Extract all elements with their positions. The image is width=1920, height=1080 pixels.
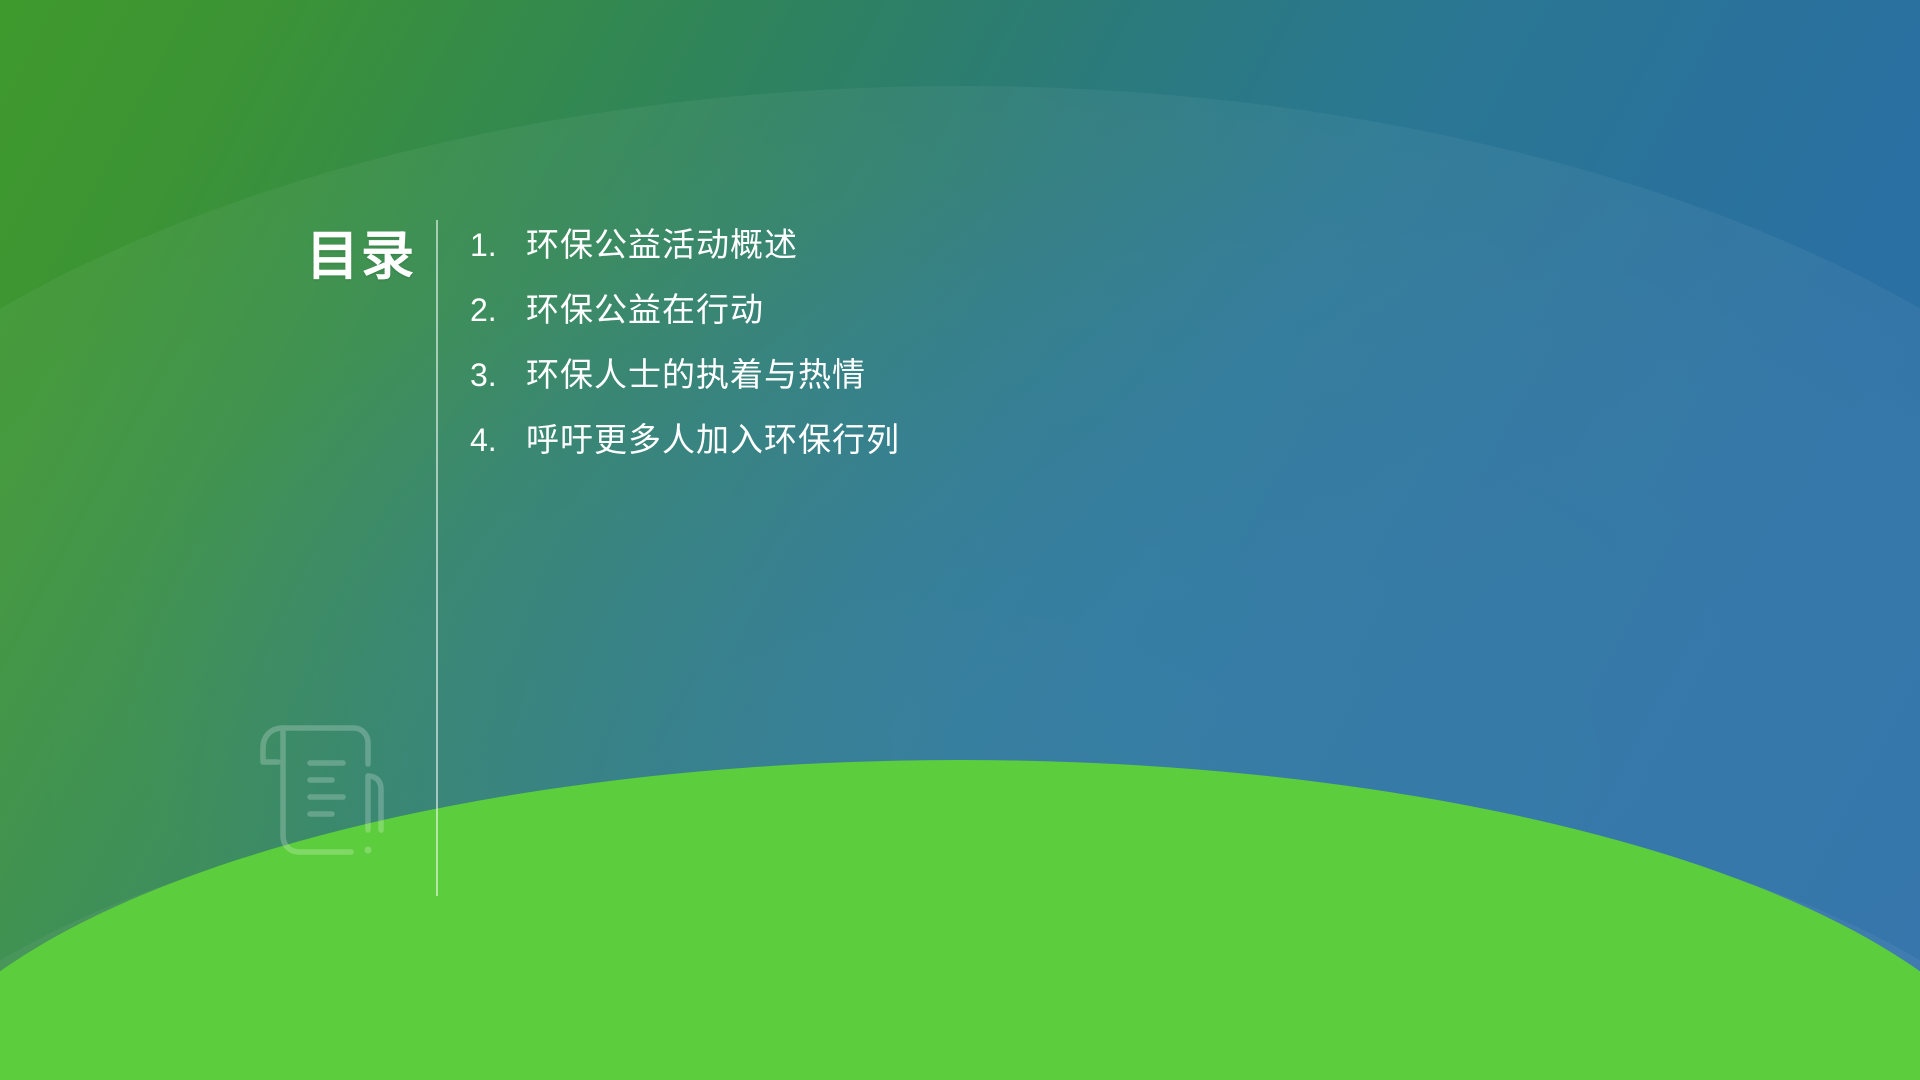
list-item-number: 1. <box>470 229 526 261</box>
list-item[interactable]: 2. 环保公益在行动 <box>470 293 900 326</box>
list-item[interactable]: 1. 环保公益活动概述 <box>470 228 900 261</box>
list-item-number: 3. <box>470 359 526 391</box>
table-of-contents-list: 1. 环保公益活动概述 2. 环保公益在行动 3. 环保人士的执着与热情 4. … <box>470 228 900 488</box>
presentation-slide: 目录 1. 环保公益活动概述 2. 环保公益在行动 3. 环保人士的执着与热情 … <box>0 0 1920 1080</box>
list-item[interactable]: 4. 呼吁更多人加入环保行列 <box>470 423 900 456</box>
vertical-divider <box>436 220 438 896</box>
list-item-label: 呼吁更多人加入环保行列 <box>526 423 900 456</box>
list-item-number: 2. <box>470 294 526 326</box>
list-item-label: 环保公益活动概述 <box>526 228 798 261</box>
slide-content: 目录 1. 环保公益活动概述 2. 环保公益在行动 3. 环保人士的执着与热情 … <box>0 0 1920 1080</box>
page-title: 目录 <box>286 225 416 289</box>
list-item-label: 环保公益在行动 <box>526 293 764 326</box>
list-item[interactable]: 3. 环保人士的执着与热情 <box>470 358 900 391</box>
list-item-number: 4. <box>470 424 526 456</box>
scroll-document-exclamation-icon <box>250 718 400 878</box>
list-item-label: 环保人士的执着与热情 <box>526 358 866 391</box>
